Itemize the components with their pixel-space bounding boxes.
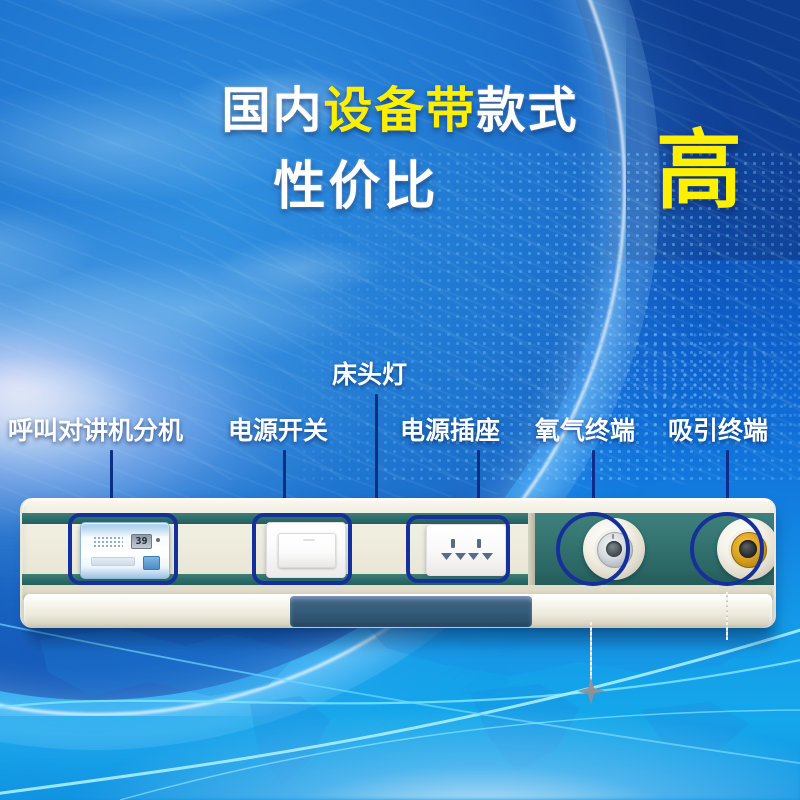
highlight-circle-oxygen [556,512,630,586]
highlight-box-intercom [68,513,178,585]
panel-teal-zone-edge [528,513,535,585]
sparkle-icon [576,676,606,706]
bed-lamp-diffuser[interactable] [290,596,532,627]
callout-label-power-socket: 电源插座 [400,418,500,443]
headline-seg-1: 国内 [221,82,323,139]
poster-canvas: 国内设备带款式 性价比 高 呼叫对讲机分机 电源开关 床头灯 电源插座 氧气终端… [0,0,800,800]
highlight-circle-suction [690,512,764,586]
highlight-box-power-switch [252,513,352,585]
highlight-box-power-socket [406,515,510,583]
headline-seg-3: 款式 [477,82,579,139]
headline-seg-2: 设备带 [323,82,476,139]
headline-seg-4: 性价比 [273,157,438,217]
bottom-glow [0,690,800,800]
callout-label-bed-lamp: 床头灯 [332,362,407,387]
callout-label-power-switch: 电源开关 [228,418,328,443]
suction-pull-cord [726,592,728,640]
callout-label-oxygen-outlet: 氧气终端 [535,418,635,443]
headline-emphasis: 高 [656,128,742,214]
callout-label-suction-outlet: 吸引终端 [668,418,768,443]
callout-label-intercom: 呼叫对讲机分机 [8,418,183,443]
